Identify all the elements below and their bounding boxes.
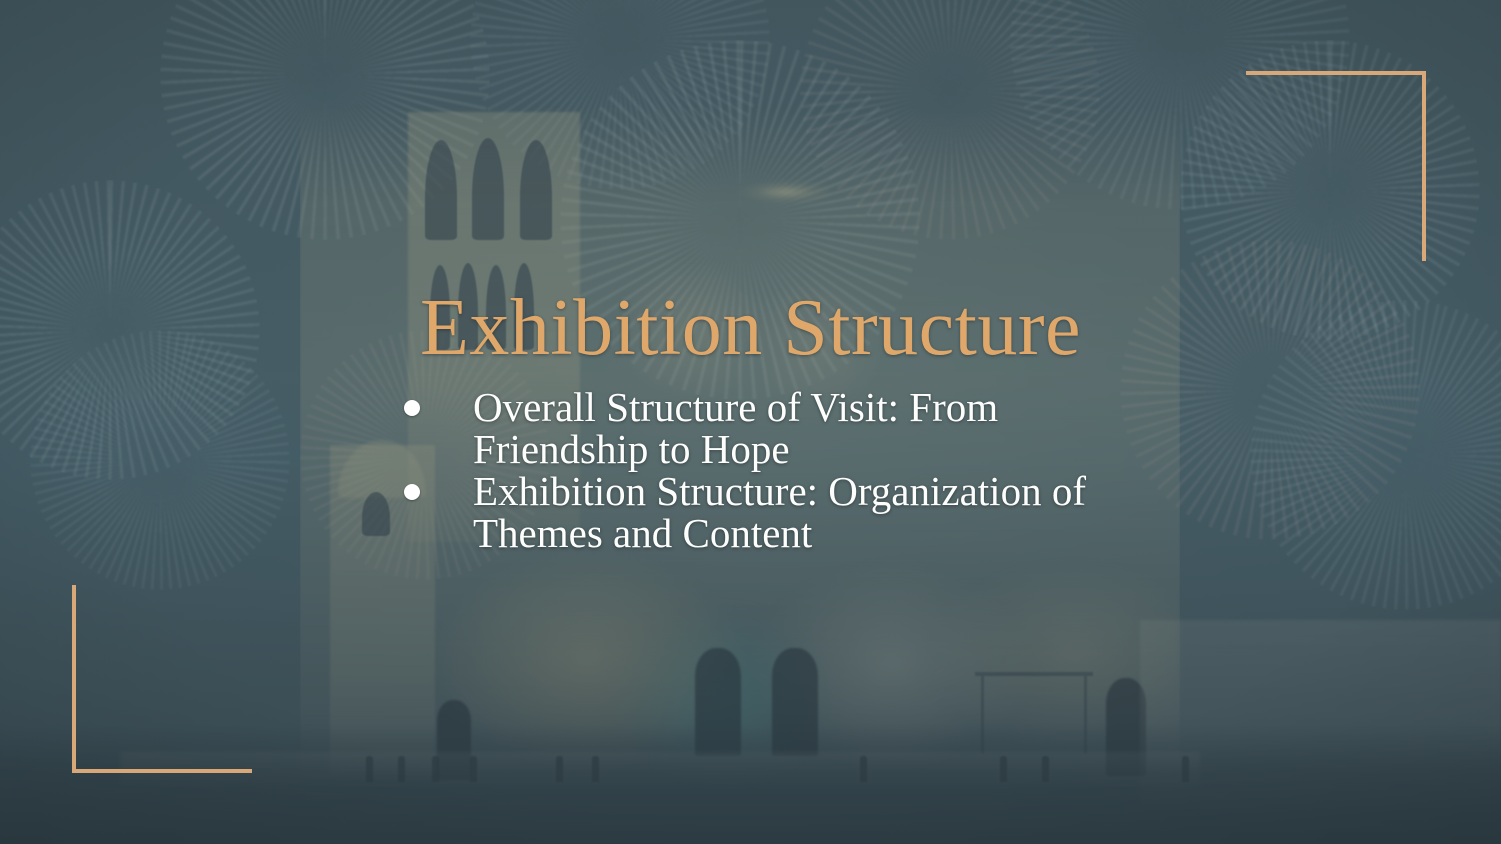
bullet-dot-icon [404, 484, 420, 500]
list-item: Exhibition Structure: Organization of Th… [404, 470, 1094, 554]
page-title: Exhibition Structure [0, 285, 1501, 371]
bullet-list: Overall Structure of Visit: From Friends… [404, 386, 1094, 554]
slide-content: Exhibition Structure Overall Structure o… [0, 0, 1501, 844]
presentation-slide: Exhibition Structure Overall Structure o… [0, 0, 1501, 844]
list-item-label: Overall Structure of Visit: From Friends… [473, 386, 1094, 470]
list-item-label: Exhibition Structure: Organization of Th… [473, 470, 1094, 554]
bullet-dot-icon [404, 400, 420, 416]
list-item: Overall Structure of Visit: From Friends… [404, 386, 1094, 470]
